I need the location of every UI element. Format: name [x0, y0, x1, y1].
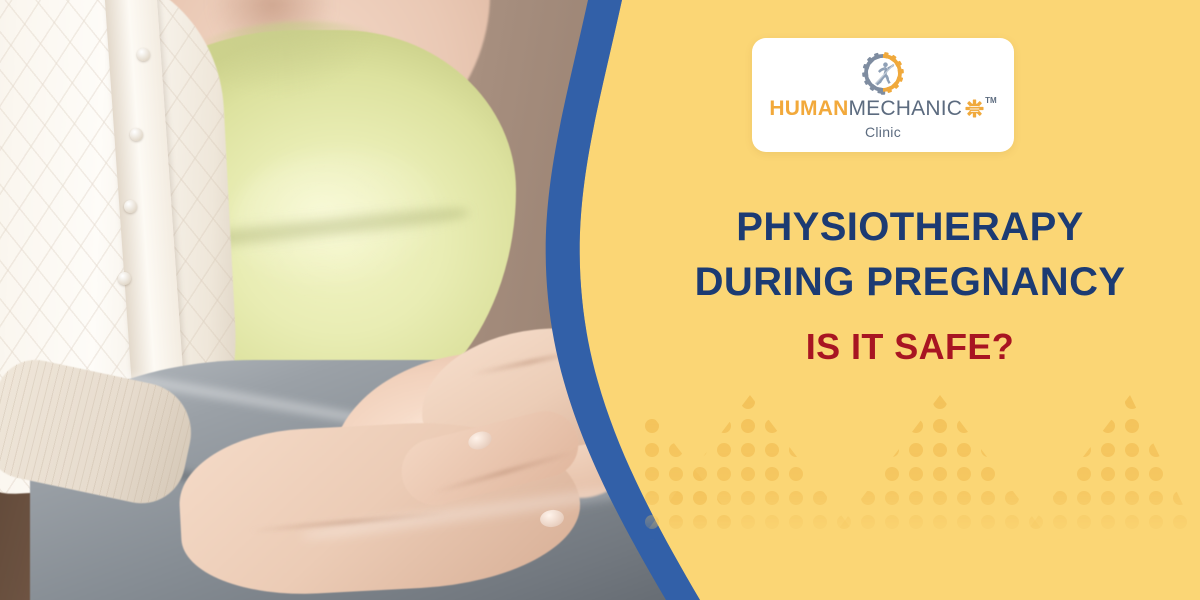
cardigan-button [118, 272, 131, 285]
gear-runner-icon [854, 51, 912, 97]
halftone-triangle-pattern [640, 390, 1200, 570]
hero-photo [0, 0, 700, 600]
headline-subtitle: IS IT SAFE? [640, 326, 1180, 368]
orange-gear-icon [965, 99, 984, 118]
wordmark-human: HUMAN [769, 98, 848, 119]
cardigan-button [130, 128, 143, 141]
trademark-symbol: TM [985, 97, 997, 105]
logo-wordmark: HUMAN MECHANIC [769, 98, 996, 119]
cardigan-button [124, 200, 137, 213]
headline-line-1: PHYSIOTHERAPY [640, 200, 1180, 255]
logo-card[interactable]: HUMAN MECHANIC [752, 38, 1014, 152]
logo-tagline: Clinic [865, 124, 901, 140]
cardigan-button [137, 48, 150, 61]
headline-block: PHYSIOTHERAPY DURING PREGNANCY IS IT SAF… [640, 200, 1180, 368]
headline-line-2: DURING PREGNANCY [640, 255, 1180, 310]
promo-banner: HUMAN MECHANIC [0, 0, 1200, 600]
wordmark-mechanic: MECHANIC [848, 98, 962, 119]
